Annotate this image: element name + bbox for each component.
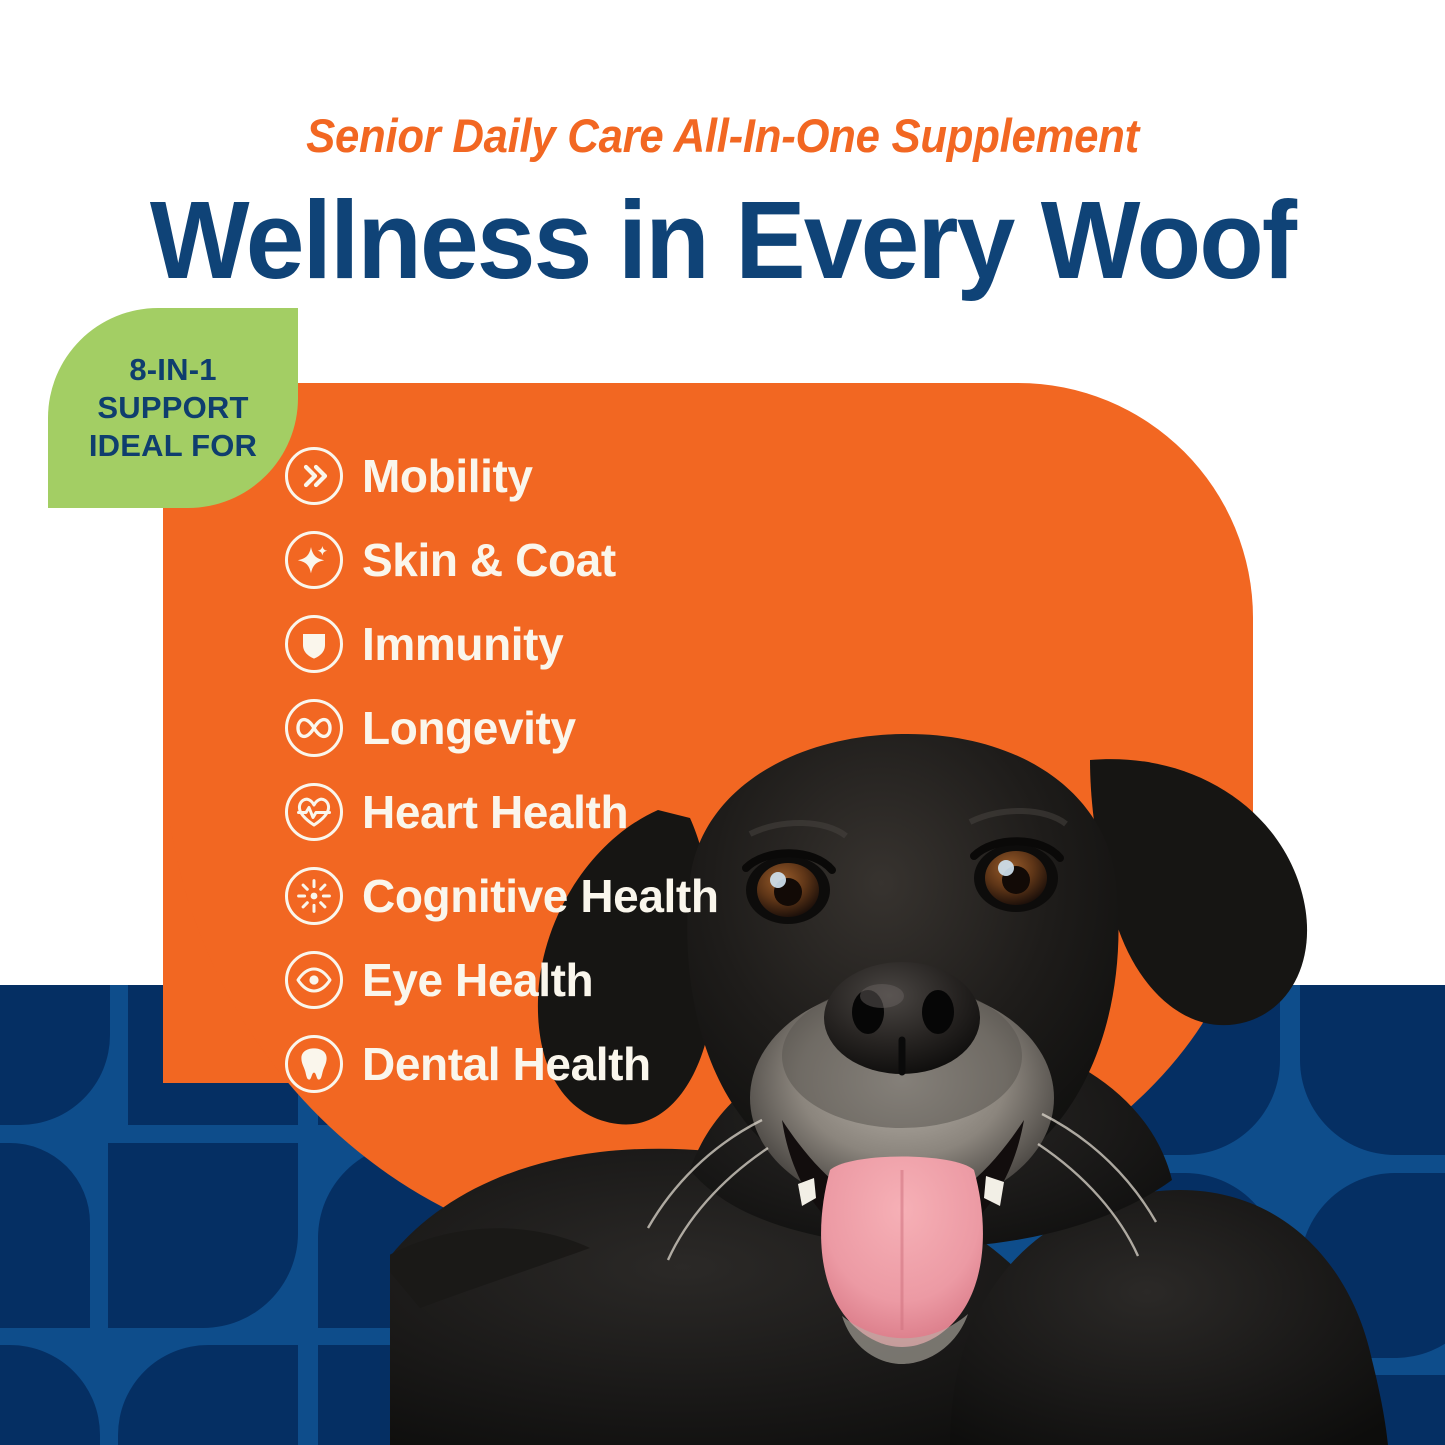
- benefit-item-dental-health: Dental Health: [285, 1026, 1045, 1101]
- benefit-item-cognitive-health: Cognitive Health: [285, 858, 1045, 933]
- badge-line-2: SUPPORT: [97, 389, 248, 427]
- benefit-label: Skin & Coat: [362, 533, 616, 587]
- benefit-item-heart-health: Heart Health: [285, 774, 1045, 849]
- support-badge: 8-IN-1 SUPPORT IDEAL FOR: [48, 308, 298, 508]
- shield-icon: [285, 615, 343, 673]
- tooth-icon: [285, 1035, 343, 1093]
- benefit-label: Mobility: [362, 449, 533, 503]
- eye-icon: [285, 951, 343, 1009]
- benefit-label: Heart Health: [362, 785, 628, 839]
- benefit-item-longevity: Longevity: [285, 690, 1045, 765]
- eyebrow-text: Senior Daily Care All-In-One Supplement: [51, 108, 1395, 163]
- infinity-icon: [285, 699, 343, 757]
- benefit-label: Cognitive Health: [362, 869, 719, 923]
- page-title: Wellness in Every Woof: [29, 186, 1416, 296]
- benefit-label: Eye Health: [362, 953, 593, 1007]
- promo-graphic: Senior Daily Care All-In-One Supplement …: [0, 0, 1445, 1445]
- sunburst-brain-icon: [285, 867, 343, 925]
- double-chevron-icon: [285, 447, 343, 505]
- heart-pulse-icon: [285, 783, 343, 841]
- benefit-list: Mobility Skin & Coat Immunity: [285, 438, 1045, 1110]
- benefit-item-mobility: Mobility: [285, 438, 1045, 513]
- badge-line-1: 8-IN-1: [129, 351, 216, 389]
- benefit-item-eye-health: Eye Health: [285, 942, 1045, 1017]
- benefit-label: Immunity: [362, 617, 563, 671]
- benefit-item-skin-and-coat: Skin & Coat: [285, 522, 1045, 597]
- benefit-label: Longevity: [362, 701, 576, 755]
- benefit-label: Dental Health: [362, 1037, 651, 1091]
- benefit-item-immunity: Immunity: [285, 606, 1045, 681]
- badge-line-3: IDEAL FOR: [89, 427, 257, 465]
- sparkle-icon: [285, 531, 343, 589]
